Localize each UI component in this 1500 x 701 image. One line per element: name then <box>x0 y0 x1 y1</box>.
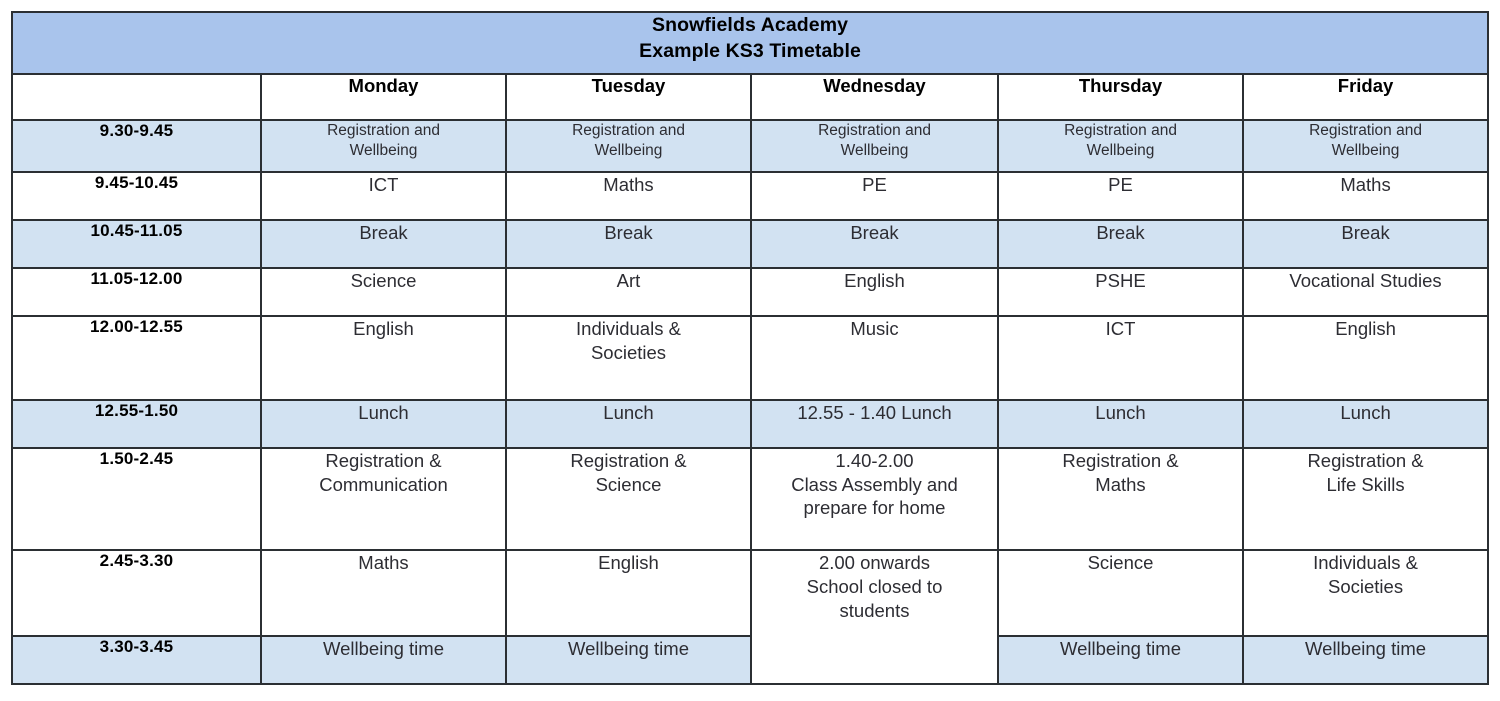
slot-wednesday: PE <box>751 172 998 220</box>
time-label: 2.45-3.30 <box>12 550 261 636</box>
slot-monday: ICT <box>261 172 506 220</box>
column-header-friday: Friday <box>1243 74 1488 120</box>
slot-tuesday: Individuals & Societies <box>506 316 751 400</box>
slot-wednesday: English <box>751 268 998 316</box>
table-row: 12.00-12.55 English Individuals & Societ… <box>12 316 1488 400</box>
title-row: Snowfields Academy Example KS3 Timetable <box>12 12 1488 74</box>
title-line-1: Snowfields Academy <box>13 13 1487 39</box>
slot-wednesday: Registration and Wellbeing <box>751 120 998 172</box>
time-label: 9.45-10.45 <box>12 172 261 220</box>
table-row: 3.30-3.45 Wellbeing time Wellbeing time … <box>12 636 1488 684</box>
table-row: 1.50-2.45 Registration & Communication R… <box>12 448 1488 550</box>
table-row: 10.45-11.05 Break Break Break Break Brea… <box>12 220 1488 268</box>
slot-thursday: PSHE <box>998 268 1243 316</box>
time-label: 10.45-11.05 <box>12 220 261 268</box>
slot-tuesday: Registration & Science <box>506 448 751 550</box>
time-label: 12.55-1.50 <box>12 400 261 448</box>
table-row: 9.30-9.45 Registration and Wellbeing Reg… <box>12 120 1488 172</box>
table-row: 9.45-10.45 ICT Maths PE PE Maths <box>12 172 1488 220</box>
slot-tuesday: Art <box>506 268 751 316</box>
slot-tuesday: Lunch <box>506 400 751 448</box>
table-row: 2.45-3.30 Maths English 2.00 onwards Sch… <box>12 550 1488 636</box>
slot-thursday: Registration and Wellbeing <box>998 120 1243 172</box>
slot-thursday: Lunch <box>998 400 1243 448</box>
timetable-page: Snowfields Academy Example KS3 Timetable… <box>0 0 1500 701</box>
column-header-tuesday: Tuesday <box>506 74 751 120</box>
slot-thursday: ICT <box>998 316 1243 400</box>
slot-tuesday: English <box>506 550 751 636</box>
corner-cell <box>12 74 261 120</box>
time-label: 9.30-9.45 <box>12 120 261 172</box>
slot-friday: Maths <box>1243 172 1488 220</box>
time-label: 11.05-12.00 <box>12 268 261 316</box>
slot-wednesday-school-closed: 2.00 onwards School closed to students <box>751 550 998 684</box>
slot-friday: Lunch <box>1243 400 1488 448</box>
slot-friday: Registration & Life Skills <box>1243 448 1488 550</box>
time-label: 1.50-2.45 <box>12 448 261 550</box>
slot-monday: Science <box>261 268 506 316</box>
slot-wednesday: Break <box>751 220 998 268</box>
slot-friday: Registration and Wellbeing <box>1243 120 1488 172</box>
ks3-timetable: Snowfields Academy Example KS3 Timetable… <box>11 11 1489 685</box>
slot-monday: Wellbeing time <box>261 636 506 684</box>
table-row: 12.55-1.50 Lunch Lunch 12.55 - 1.40 Lunc… <box>12 400 1488 448</box>
slot-friday: Vocational Studies <box>1243 268 1488 316</box>
slot-monday: English <box>261 316 506 400</box>
column-header-monday: Monday <box>261 74 506 120</box>
slot-monday: Lunch <box>261 400 506 448</box>
slot-tuesday: Registration and Wellbeing <box>506 120 751 172</box>
slot-tuesday: Break <box>506 220 751 268</box>
slot-thursday: Break <box>998 220 1243 268</box>
slot-wednesday: 1.40-2.00 Class Assembly and prepare for… <box>751 448 998 550</box>
slot-friday: Individuals & Societies <box>1243 550 1488 636</box>
slot-tuesday: Wellbeing time <box>506 636 751 684</box>
slot-monday: Break <box>261 220 506 268</box>
column-header-wednesday: Wednesday <box>751 74 998 120</box>
slot-friday: Break <box>1243 220 1488 268</box>
slot-thursday: Science <box>998 550 1243 636</box>
slot-thursday: Wellbeing time <box>998 636 1243 684</box>
slot-friday: English <box>1243 316 1488 400</box>
time-label: 3.30-3.45 <box>12 636 261 684</box>
slot-tuesday: Maths <box>506 172 751 220</box>
time-label: 12.00-12.55 <box>12 316 261 400</box>
column-header-thursday: Thursday <box>998 74 1243 120</box>
day-header-row: Monday Tuesday Wednesday Thursday Friday <box>12 74 1488 120</box>
slot-monday: Registration and Wellbeing <box>261 120 506 172</box>
slot-wednesday: 12.55 - 1.40 Lunch <box>751 400 998 448</box>
slot-friday: Wellbeing time <box>1243 636 1488 684</box>
slot-thursday: PE <box>998 172 1243 220</box>
slot-thursday: Registration & Maths <box>998 448 1243 550</box>
table-row: 11.05-12.00 Science Art English PSHE Voc… <box>12 268 1488 316</box>
slot-monday: Maths <box>261 550 506 636</box>
page-title: Snowfields Academy Example KS3 Timetable <box>12 12 1488 74</box>
slot-wednesday: Music <box>751 316 998 400</box>
slot-monday: Registration & Communication <box>261 448 506 550</box>
title-line-2: Example KS3 Timetable <box>13 39 1487 65</box>
